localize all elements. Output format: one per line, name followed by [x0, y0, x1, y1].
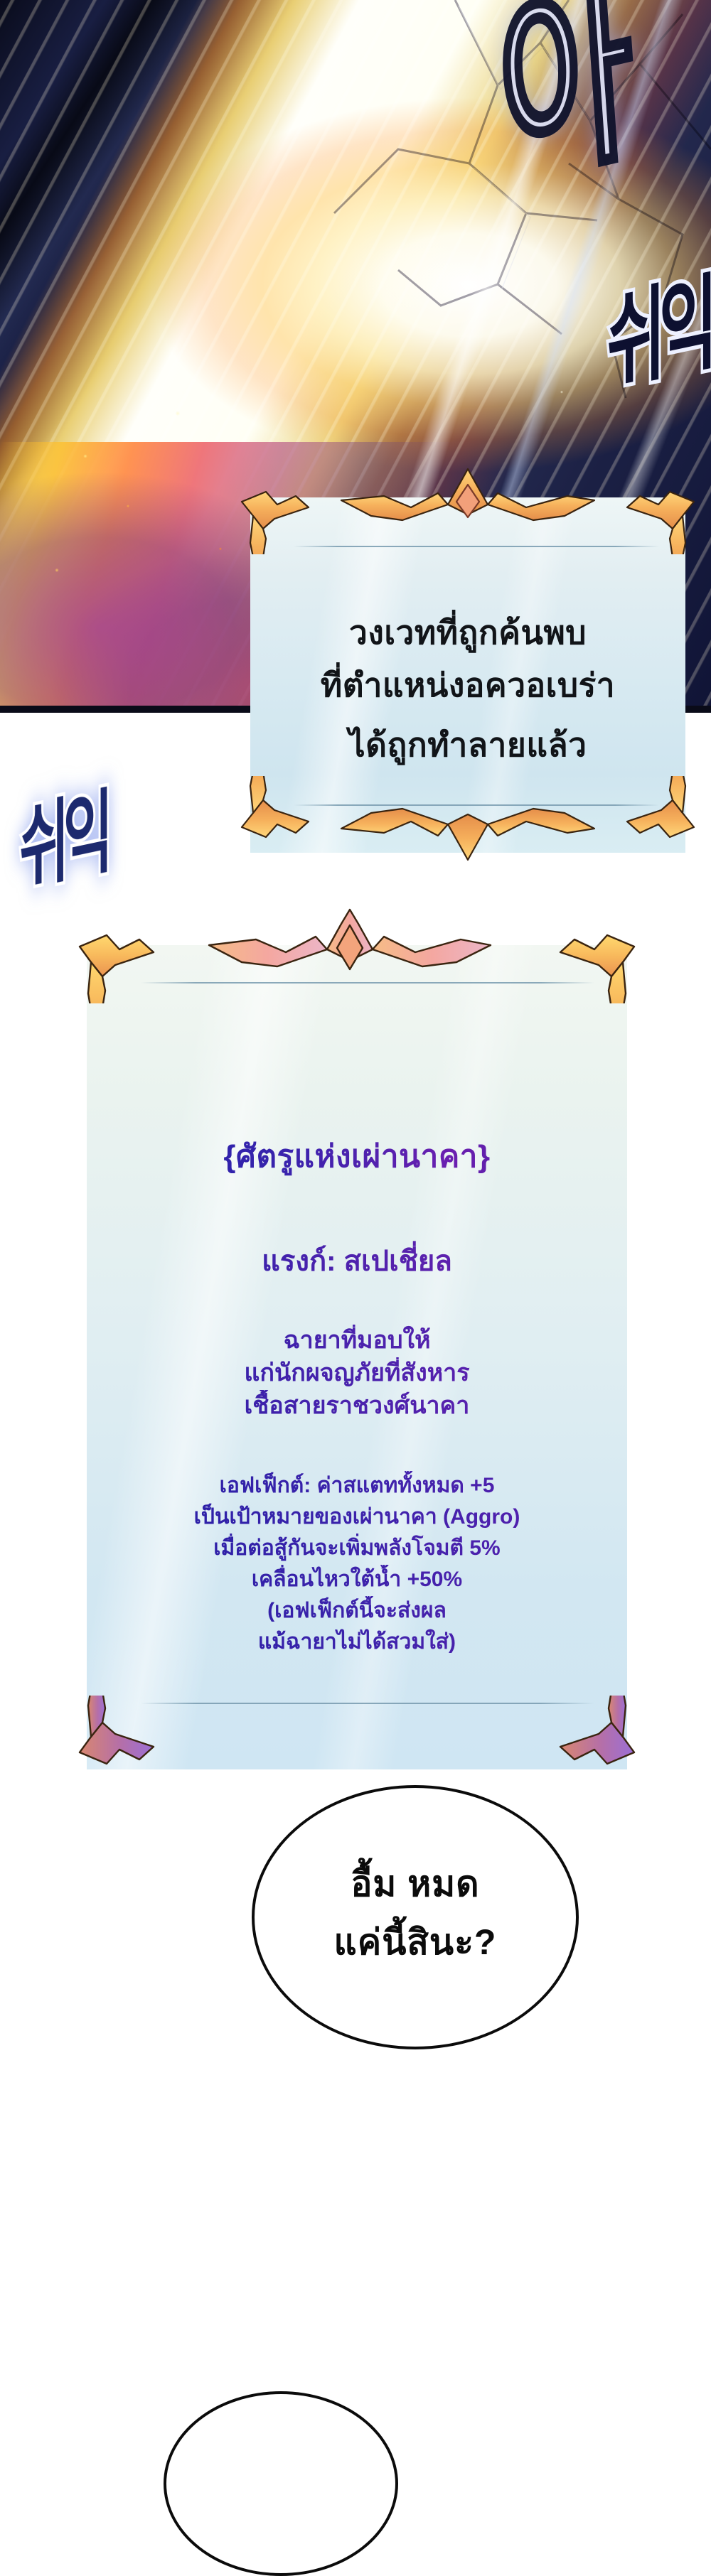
scroll-rule-bottom [294, 804, 659, 806]
scroll-one-line-3: ได้ถูกทำลายแล้ว [250, 722, 685, 768]
scroll-two-effect-2: เป็นเป้าหมายของเผ่านาคา (Aggro) [87, 1502, 627, 1533]
scroll-two-effect-5: (เอฟเฟ็กต์นี้จะส่งผล [87, 1596, 627, 1627]
scroll-two-effect-4: เคลื่อนไหวใต้น้ำ +50% [87, 1565, 627, 1595]
scroll-two-desc-1: ฉายาที่มอบให้ [87, 1325, 627, 1357]
scroll-one-line-2: ที่ตำแหน่งอควอเบร่า [250, 662, 685, 708]
scroll-two-rule-bottom [141, 1703, 594, 1704]
dialogue-bubble [252, 1785, 579, 2049]
scroll-two-effect-3: เมื่อต่อสู้กันจะเพิ่มพลังโจมตี 5% [87, 1534, 627, 1564]
sfx-crack-top-right-icon: 아 [493, 0, 639, 188]
scroll-rule-top [294, 546, 659, 547]
next-dialogue-bubble-partial [164, 2391, 398, 2576]
scroll-two-desc-3: เชื้อสายราชวงศ์นาคา [87, 1390, 627, 1423]
sfx-slash-right-icon: 쉬익 [607, 277, 711, 392]
scroll-two-rule-top [141, 982, 594, 983]
scroll-two-effect-6: แม้ฉายาไม่ได้สวมใส่) [87, 1627, 627, 1658]
scroll-two-desc-2: แก่นักผจญภัยที่สังหาร [87, 1357, 627, 1390]
title-acquired-scroll: {ศัตรูแห่งเผ่านาคา} แรงก์: สเปเชี่ยล ฉาย… [87, 945, 627, 1769]
scroll-two-effect-1: เอฟเฟ็กต์: ค่าสแตททั้งหมด +5 [87, 1471, 627, 1502]
dialogue-bubble-line-1: อื้ม หมด [252, 1860, 579, 1908]
scroll-one-line-1: วงเวทที่ถูกค้นพบ [250, 610, 685, 656]
scroll-two-title: {ศัตรูแห่งเผ่านาคา} [87, 1131, 627, 1181]
dialogue-bubble-line-2: แค่นี้สินะ? [252, 1919, 579, 1966]
scroll-two-rank: แรงก์: สเปเชี่ยล [87, 1238, 627, 1283]
system-notification-scroll: วงเวทที่ถูกค้นพบ ที่ตำแหน่งอควอเบร่า ได้… [250, 497, 685, 853]
sfx-slash-left-icon: 쉬익 [19, 792, 107, 893]
